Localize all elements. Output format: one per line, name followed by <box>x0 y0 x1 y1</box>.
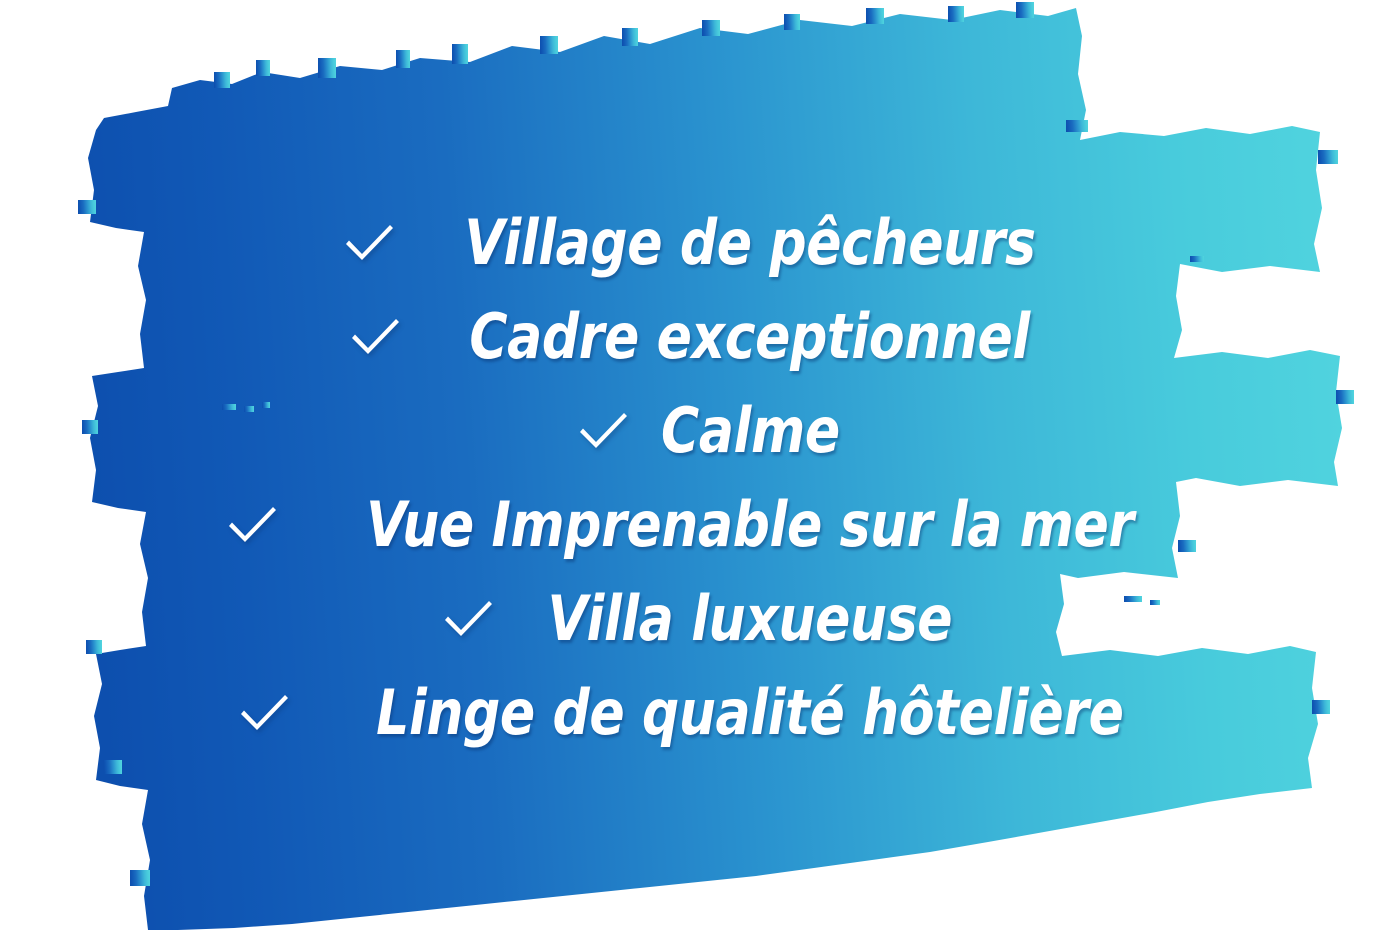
list-item-label: Linge de qualité hôtelière <box>376 680 1123 746</box>
check-icon <box>223 499 279 555</box>
list-item: Cadre exceptionnel <box>0 290 1400 384</box>
check-icon <box>235 687 291 743</box>
list-item: Villa luxueuse <box>0 572 1400 666</box>
list-item: Calme <box>0 384 1400 478</box>
list-item-label: Villa luxueuse <box>548 586 953 652</box>
list-item: Linge de qualité hôtelière <box>0 666 1400 760</box>
check-icon <box>346 311 402 367</box>
list-item-label: Vue Imprenable sur la mer <box>366 492 1134 558</box>
check-icon <box>439 593 495 649</box>
promo-graphic: Village de pêcheurs Cadre exceptionnel C… <box>0 0 1400 933</box>
list-item: Village de pêcheurs <box>0 196 1400 290</box>
list-item-label: Cadre exceptionnel <box>470 304 1030 370</box>
check-icon <box>340 217 396 273</box>
list-item-label: Calme <box>661 398 840 464</box>
feature-list: Village de pêcheurs Cadre exceptionnel C… <box>0 0 1400 933</box>
check-icon <box>574 405 630 461</box>
list-item-label: Village de pêcheurs <box>464 210 1035 276</box>
list-item: Vue Imprenable sur la mer <box>0 478 1400 572</box>
